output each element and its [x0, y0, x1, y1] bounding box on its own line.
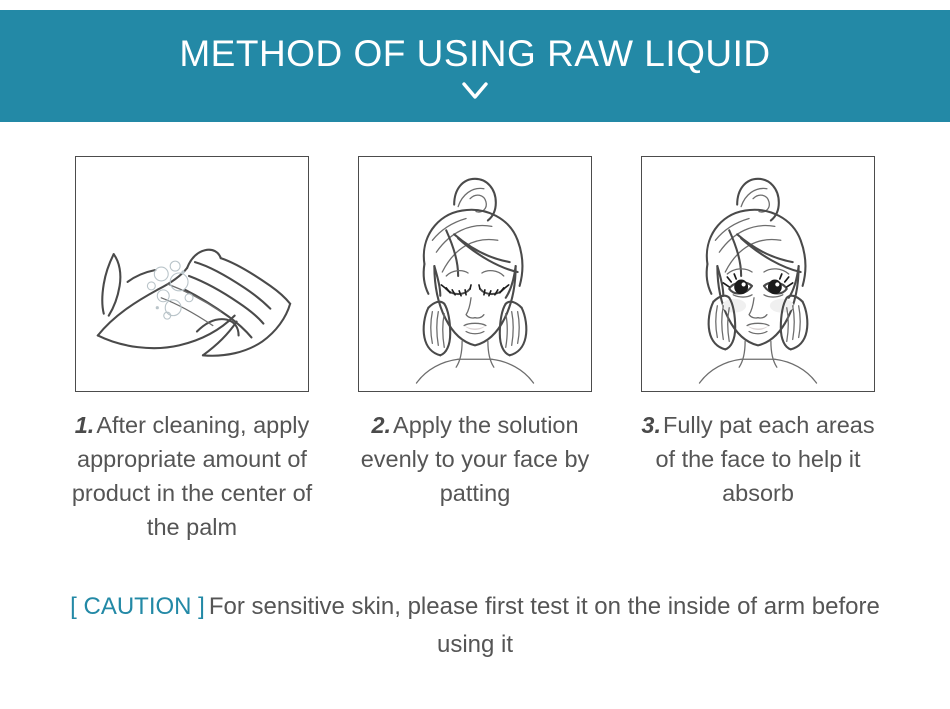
step-1-figure — [75, 156, 309, 392]
caution-tag: [ CAUTION ] — [70, 593, 205, 620]
step-2-number: 2. — [371, 412, 391, 438]
step-item: 1.After cleaning, apply appropriate amou… — [74, 156, 310, 544]
step-2-caption: 2.Apply the solution evenly to your face… — [351, 408, 599, 510]
step-1-number: 1. — [75, 412, 95, 438]
step-item: 3.Fully pat each areas of the face to he… — [640, 156, 876, 544]
woman-eyes-open-patting-face-icon — [642, 157, 874, 391]
instruction-page: METHOD OF USING RAW LIQUID — [0, 0, 950, 709]
chevron-down-icon — [462, 82, 488, 100]
step-2-text: Apply the solution evenly to your face b… — [361, 412, 590, 506]
steps-row: 1.After cleaning, apply appropriate amou… — [0, 156, 950, 544]
caution-text: For sensitive skin, please first test it… — [209, 593, 880, 658]
page-title: METHOD OF USING RAW LIQUID — [179, 35, 770, 72]
step-3-text: Fully pat each areas of the face to help… — [655, 412, 874, 506]
woman-eyes-closed-hands-on-face-icon — [359, 157, 591, 391]
step-1-text: After cleaning, apply appropriate amount… — [72, 412, 312, 540]
step-1-caption: 1.After cleaning, apply appropriate amou… — [68, 408, 316, 544]
step-3-figure — [641, 156, 875, 392]
step-3-number: 3. — [641, 412, 661, 438]
header-banner: METHOD OF USING RAW LIQUID — [0, 10, 950, 122]
step-3-caption: 3.Fully pat each areas of the face to he… — [634, 408, 882, 510]
two-hands-with-product-icon — [76, 157, 308, 391]
caution-block: [ CAUTION ]For sensitive skin, please fi… — [0, 588, 950, 664]
step-2-figure — [358, 156, 592, 392]
step-item: 2.Apply the solution evenly to your face… — [357, 156, 593, 544]
